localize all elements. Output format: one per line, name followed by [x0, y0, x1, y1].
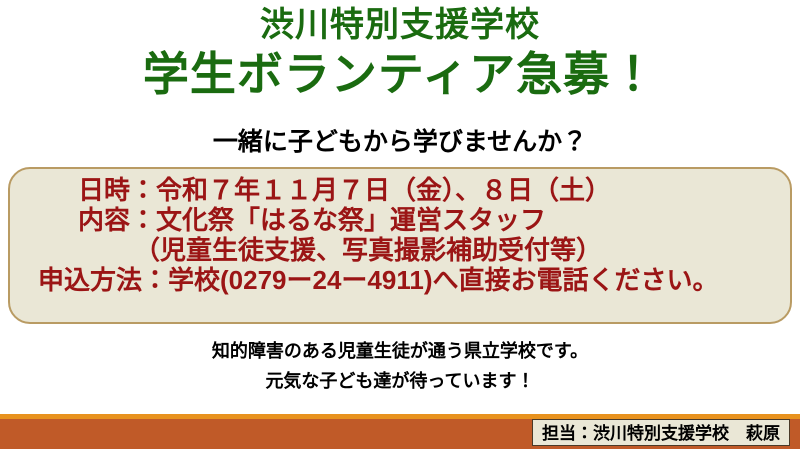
school-name-heading: 渋川特別支援学校 [0, 4, 800, 46]
footer-bar: 担当：渋川特別支援学校 萩原 [0, 414, 800, 449]
info-box: 日時：令和７年１１月７日（金）、８日（土） 内容：文化祭「はるな祭」運営スタッフ… [8, 167, 792, 324]
info-line-content: 内容：文化祭「はるな祭」運営スタッフ [22, 205, 778, 235]
poster-notes: 知的障害のある児童生徒が通う県立学校です。 元気な子ども達が待っています！ [0, 336, 800, 396]
footer-contact-label: 担当：渋川特別支援学校 萩原 [532, 419, 790, 446]
info-lines: 日時：令和７年１１月７日（金）、８日（土） 内容：文化祭「はるな祭」運営スタッフ… [22, 175, 778, 295]
poster-heading: 渋川特別支援学校 学生ボランティア急募！ [0, 4, 800, 102]
poster-root: 渋川特別支援学校 学生ボランティア急募！ 一緒に子どもから学びませんか？ 日時：… [0, 0, 800, 449]
info-line-apply: 申込方法：学校(0279ー24ー4911)へ直接お電話ください。 [22, 265, 778, 295]
note-line-school-description: 知的障害のある児童生徒が通う県立学校です。 [0, 336, 800, 366]
note-line-invitation: 元気な子ども達が待っています！ [0, 366, 800, 396]
poster-subtitle: 一緒に子どもから学びませんか？ [0, 126, 800, 158]
info-line-date: 日時：令和７年１１月７日（金）、８日（土） [22, 175, 778, 205]
info-line-content-detail: （児童生徒支援、写真撮影補助受付等） [22, 235, 778, 265]
main-headline: 学生ボランティア急募！ [0, 46, 800, 102]
